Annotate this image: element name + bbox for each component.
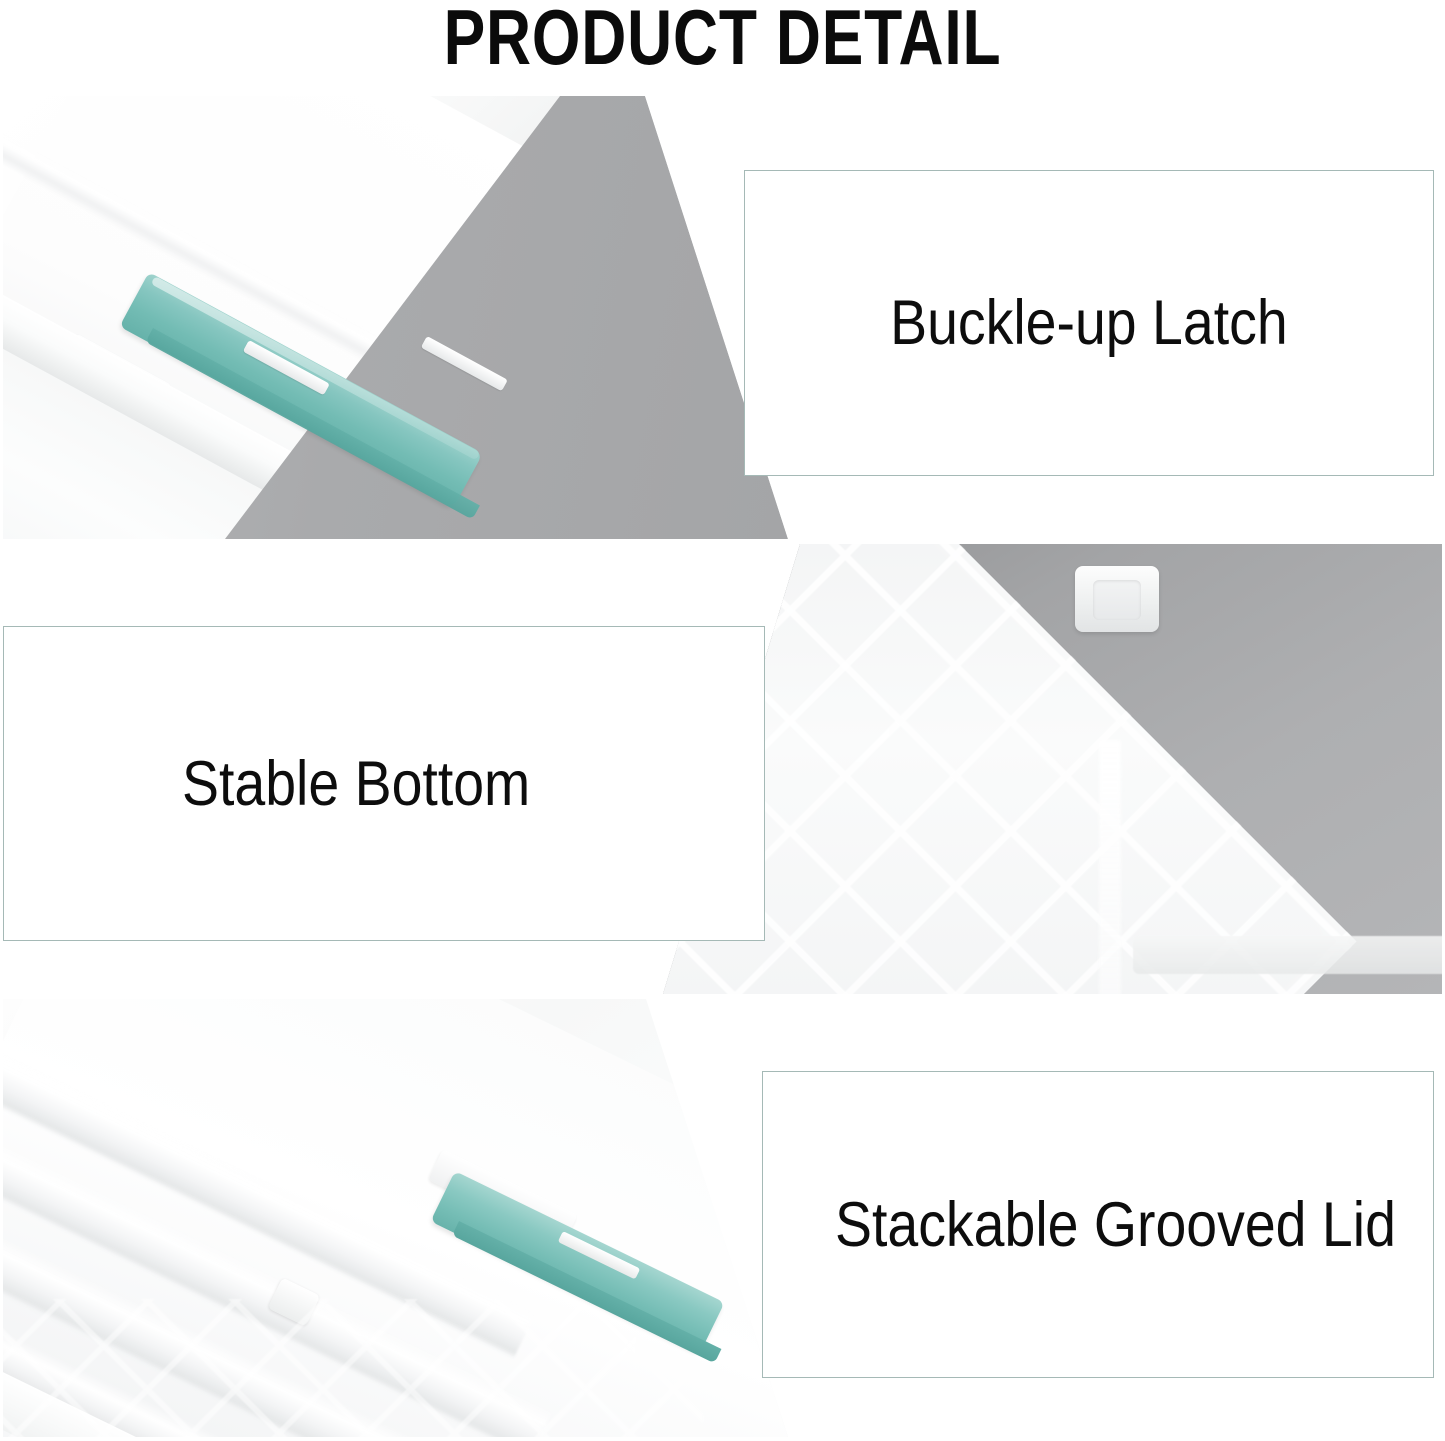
bin-body-lattice-grid bbox=[3, 1299, 703, 1437]
bin-base-rail bbox=[1133, 936, 1442, 974]
feature-label-box-buckle-up-latch: Buckle-up Latch bbox=[744, 170, 1434, 476]
page-title: PRODUCT DETAIL bbox=[145, 0, 1301, 78]
feature-label-stable-bottom: Stable Bottom bbox=[182, 749, 530, 819]
feature-photo-stable-bottom bbox=[663, 544, 1442, 994]
bin-corner-foot-inner bbox=[1093, 580, 1141, 620]
feature-photo-stackable-grooved-lid bbox=[3, 999, 788, 1437]
feature-photo-buckle-up-latch bbox=[3, 96, 788, 539]
feature-label-buckle-up-latch: Buckle-up Latch bbox=[890, 288, 1288, 358]
feature-label-box-stackable-grooved-lid: Stackable Grooved Lid bbox=[762, 1071, 1434, 1378]
feature-label-stackable-grooved-lid: Stackable Grooved Lid bbox=[835, 1190, 1396, 1260]
feature-label-box-stable-bottom: Stable Bottom bbox=[3, 626, 765, 941]
bin-base-center-rib bbox=[1099, 740, 1121, 994]
